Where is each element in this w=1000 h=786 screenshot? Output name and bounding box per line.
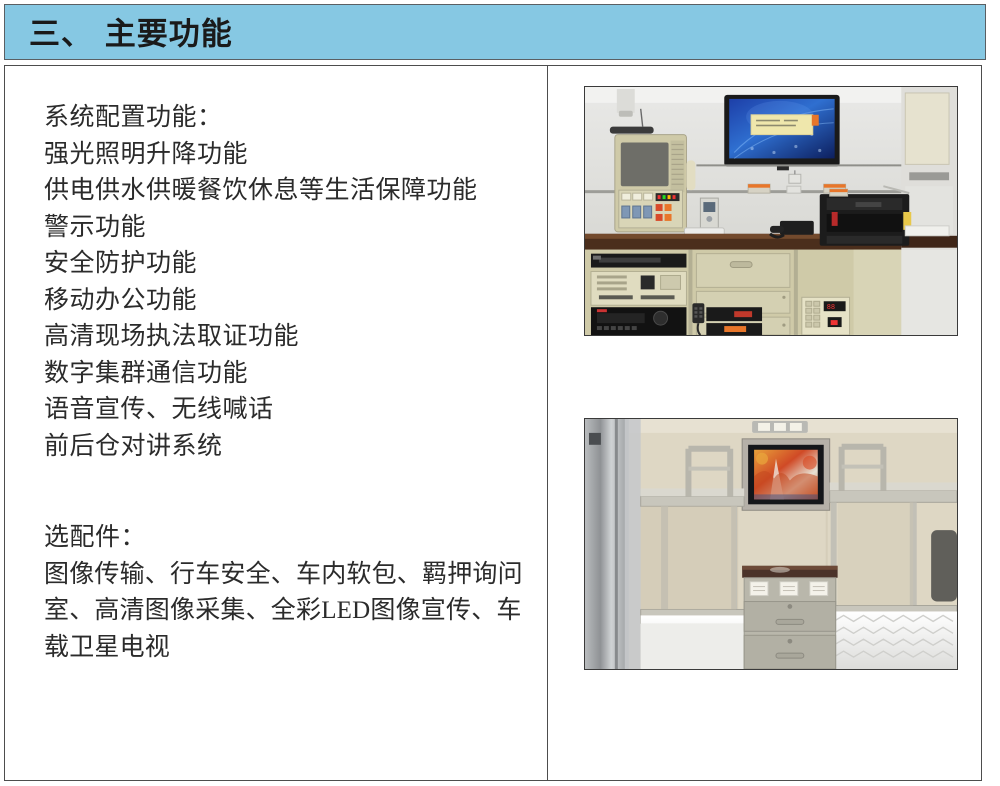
switch-plate-3 — [810, 582, 828, 596]
command-room-illustration: 88 — [585, 87, 957, 335]
wall-plate — [787, 186, 801, 193]
feature-item: 前后仓对讲系统 — [44, 429, 544, 466]
feature-item: 移动办公功能 — [44, 283, 544, 320]
counter-return — [901, 236, 957, 248]
command-room-photo: 88 — [584, 86, 958, 336]
framed-autumn-painting — [742, 439, 830, 510]
feature-item: 高清现场执法取证功能 — [44, 319, 544, 356]
svg-text:88: 88 — [827, 303, 835, 311]
feature-item: 安全防护功能 — [44, 246, 544, 283]
cabinet-drawers — [696, 254, 789, 335]
keypad-control-unit: 88 — [802, 297, 850, 335]
switch-plate-1 — [750, 582, 768, 596]
optional-accessories-block: 选配件： 图像传输、行车安全、车内软包、羁押询问室、高清图像采集、全彩LED图像… — [44, 520, 536, 666]
slide-title-bar: 三、 主要功能 — [4, 4, 986, 60]
storage-cabinet — [742, 566, 837, 669]
ceiling-light — [752, 421, 808, 433]
handset-holder — [686, 160, 695, 190]
wall-cabinet — [905, 93, 949, 164]
feature-heading: 系统配置功能： — [44, 100, 544, 137]
console-screen — [621, 143, 669, 187]
feature-item: 语音宣传、无线喊话 — [44, 392, 544, 429]
drawer-lock-1 — [788, 604, 793, 609]
overhead-bag — [931, 530, 957, 601]
wall-shelf — [905, 226, 949, 236]
page-title: 三、 主要功能 — [29, 9, 233, 54]
drawer-handle-2 — [776, 653, 804, 658]
drawer-handle-1 — [776, 619, 804, 624]
feature-item: 供电供水供暖餐饮休息等生活保障功能 — [44, 173, 544, 210]
optional-heading: 选配件： — [44, 520, 536, 557]
power-control-box — [700, 198, 718, 228]
equipment-rack — [591, 254, 686, 335]
console-indicators — [622, 193, 680, 201]
wall-socket — [789, 174, 801, 183]
rest-room-photo — [584, 418, 958, 670]
feature-item: 警示功能 — [44, 210, 544, 247]
cable-trunk — [696, 164, 901, 166]
metal-door-panel — [585, 419, 629, 669]
drawer-lock-2 — [788, 639, 793, 644]
tv-note-tab — [812, 115, 819, 126]
upper-bunk-right-frame — [830, 490, 957, 502]
ceiling-duct — [617, 89, 635, 113]
multifunction-printer — [820, 186, 912, 246]
feature-item: 数字集群通信功能 — [44, 356, 544, 393]
door-latch — [589, 433, 601, 445]
lower-mattress-right — [830, 611, 957, 669]
console-top-unit — [610, 127, 654, 134]
duct-cap — [619, 111, 633, 117]
left-alcove-shadow — [641, 506, 736, 609]
feature-list: 系统配置功能： 强光照明升降功能 供电供水供暖餐饮休息等生活保障功能 警示功能 … — [44, 100, 544, 465]
wall-rail — [909, 172, 949, 180]
feature-item: 强光照明升降功能 — [44, 137, 544, 174]
right-alcove-shadow — [838, 502, 914, 605]
tv-stand — [777, 166, 789, 170]
mobile-radios — [706, 307, 762, 335]
switch-plate-2 — [780, 582, 798, 596]
optional-body-text: 图像传输、行车安全、车内软包、羁押询问室、高清图像采集、全彩LED图像宣传、车载… — [44, 557, 534, 667]
right-wall-lower — [901, 250, 957, 335]
rest-room-illustration — [585, 419, 957, 669]
column-divider — [547, 65, 548, 781]
upper-bunk-left-frame — [641, 496, 744, 506]
